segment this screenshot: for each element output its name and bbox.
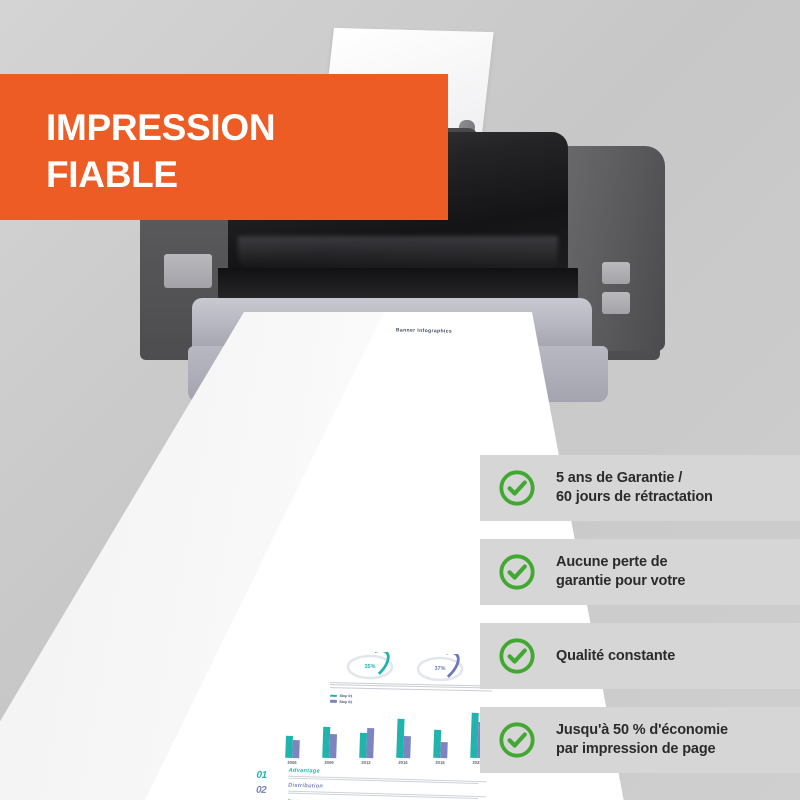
donut-chart: 35%	[344, 652, 396, 682]
poster-canvas: Banner Infographics 35% 37% Step 01 Step…	[0, 0, 800, 800]
feed-button-bottom[interactable]	[602, 292, 630, 314]
numbered-steps-list: 01 Advantage 02 Distribution 03 Improvem…	[255, 767, 486, 800]
bar-group: 2009	[322, 712, 340, 759]
benefit-item: Aucune perte de garantie pour votre	[480, 539, 800, 605]
printer-lid-highlight	[238, 236, 558, 270]
check-circle-icon	[498, 469, 536, 507]
donut-value: 37%	[414, 654, 466, 684]
check-circle-icon	[498, 553, 536, 591]
step-item: 02 Distribution	[256, 782, 486, 799]
bar-series-2	[440, 742, 448, 759]
bar-series-2	[329, 733, 337, 758]
infographic-header-title: Banner Infographics	[364, 327, 484, 336]
bar-series-2	[292, 740, 300, 758]
feed-button-top[interactable]	[602, 262, 630, 284]
benefit-label: Qualité constante	[556, 647, 675, 666]
check-circle-icon	[498, 721, 536, 759]
bar-group: 2006	[285, 712, 303, 759]
headline-text: IMPRESSION FIABLE	[46, 104, 275, 199]
benefit-label: Aucune perte de garantie pour votre	[556, 553, 685, 590]
benefit-item: 5 ans de Garantie / 60 jours de rétracta…	[480, 455, 800, 521]
benefit-item: Qualité constante	[480, 623, 800, 689]
benefit-item: Jusqu'à 50 % d'économie par impression d…	[480, 707, 800, 773]
legend-swatch	[330, 694, 337, 697]
benefit-label: 5 ans de Garantie / 60 jours de rétracta…	[556, 469, 713, 506]
donut-chart: 37%	[414, 654, 466, 684]
bar-group: 2018	[433, 712, 451, 759]
benefit-label: Jusqu'à 50 % d'économie par impression d…	[556, 721, 728, 758]
donut-value: 35%	[344, 652, 396, 682]
step-number: 02	[256, 785, 266, 796]
bar-group: 2016	[396, 712, 414, 759]
bar-category-label: 2012	[356, 760, 376, 766]
bar-series-2	[403, 736, 411, 758]
step-item: 01 Advantage	[256, 767, 486, 784]
step-number: 01	[256, 770, 266, 781]
check-circle-icon	[498, 637, 536, 675]
power-button[interactable]	[164, 254, 212, 288]
bar-category-label: 2009	[319, 760, 339, 766]
bar-series-2	[366, 728, 374, 758]
bar-category-label: 2018	[430, 760, 450, 766]
bar-group: 2012	[359, 712, 377, 759]
bar-category-label: 2016	[393, 760, 413, 766]
bar-category-label: 2006	[282, 760, 302, 766]
headline-banner: IMPRESSION FIABLE	[0, 74, 448, 220]
